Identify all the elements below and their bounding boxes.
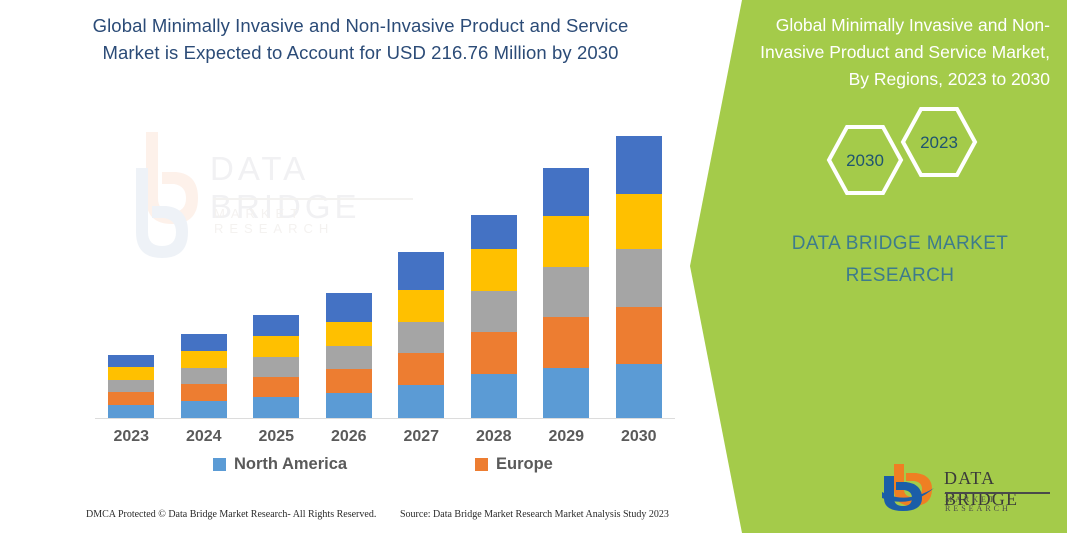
bar-segment-series-4 bbox=[108, 367, 154, 380]
bar-2024 bbox=[181, 334, 227, 418]
bar-segment-series-3 bbox=[543, 267, 589, 317]
bar-segment-europe bbox=[181, 384, 227, 401]
bar-segment-series-4 bbox=[398, 290, 444, 322]
legend-item-north-america[interactable]: North America bbox=[213, 455, 347, 474]
brand-line-2: RESEARCH bbox=[745, 260, 1055, 292]
chart-panel: Global Minimally Invasive and Non-Invasi… bbox=[0, 0, 712, 533]
x-tick-2028: 2028 bbox=[458, 428, 530, 446]
x-axis-line bbox=[95, 418, 675, 419]
bar-2027 bbox=[398, 252, 444, 418]
bar-2028 bbox=[471, 215, 517, 418]
bar-2030 bbox=[616, 136, 662, 418]
bar-chart-plot-area bbox=[95, 120, 675, 420]
bar-segment-north-america bbox=[398, 385, 444, 418]
side-panel-title: Global Minimally Invasive and Non-Invasi… bbox=[745, 12, 1050, 93]
bar-segment-series-3 bbox=[108, 380, 154, 392]
hexagon-label-2023: 2023 bbox=[916, 133, 962, 153]
x-tick-2027: 2027 bbox=[385, 428, 457, 446]
bar-segment-series-5 bbox=[253, 315, 299, 336]
infographic-page: Global Minimally Invasive and Non-Invasi… bbox=[0, 0, 1067, 533]
bar-2025 bbox=[253, 315, 299, 418]
bar-segment-series-3 bbox=[181, 368, 227, 384]
bar-2029 bbox=[543, 168, 589, 418]
x-tick-2023: 2023 bbox=[95, 428, 167, 446]
bar-segment-series-4 bbox=[253, 336, 299, 357]
bar-segment-series-3 bbox=[398, 322, 444, 353]
bar-segment-series-5 bbox=[108, 355, 154, 367]
bar-segment-series-4 bbox=[471, 249, 517, 291]
bar-segment-north-america bbox=[543, 368, 589, 418]
bar-segment-series-5 bbox=[181, 334, 227, 351]
bar-segment-north-america bbox=[616, 364, 662, 418]
bar-segment-series-5 bbox=[471, 215, 517, 249]
x-tick-2026: 2026 bbox=[313, 428, 385, 446]
footer: DMCA Protected © Data Bridge Market Rese… bbox=[0, 505, 712, 529]
hexagon-outline-icon bbox=[805, 105, 1015, 215]
bar-segment-series-4 bbox=[326, 322, 372, 346]
legend-swatch bbox=[213, 458, 226, 471]
legend-label: Europe bbox=[496, 455, 553, 474]
x-tick-2029: 2029 bbox=[530, 428, 602, 446]
bar-segment-series-4 bbox=[543, 216, 589, 267]
x-tick-2025: 2025 bbox=[240, 428, 312, 446]
bar-segment-series-4 bbox=[616, 194, 662, 249]
bar-segment-north-america bbox=[471, 374, 517, 418]
bar-segment-north-america bbox=[181, 401, 227, 418]
bar-segment-series-4 bbox=[181, 351, 227, 368]
green-side-panel: Global Minimally Invasive and Non-Invasi… bbox=[690, 0, 1067, 533]
bar-segment-europe bbox=[471, 332, 517, 374]
company-logo: DATA BRIDGE MARKET RESEARCH bbox=[882, 462, 1054, 516]
x-tick-2024: 2024 bbox=[168, 428, 240, 446]
legend-label: North America bbox=[234, 455, 347, 474]
legend-swatch bbox=[475, 458, 488, 471]
bar-segment-series-5 bbox=[616, 136, 662, 194]
brand-name: DATA BRIDGE MARKET RESEARCH bbox=[745, 228, 1055, 292]
bar-2026 bbox=[326, 293, 372, 418]
bar-segment-series-3 bbox=[326, 346, 372, 369]
x-axis-tick-labels: 20232024202520262027202820292030 bbox=[95, 428, 675, 452]
bar-segment-europe bbox=[616, 307, 662, 364]
page-title: Global Minimally Invasive and Non-Invasi… bbox=[88, 12, 633, 66]
footer-copyright: DMCA Protected © Data Bridge Market Rese… bbox=[86, 509, 376, 520]
bar-segment-europe bbox=[253, 377, 299, 397]
logo-divider bbox=[945, 492, 1050, 494]
bar-segment-europe bbox=[326, 369, 372, 393]
bar-segment-series-5 bbox=[326, 293, 372, 322]
bar-segment-europe bbox=[398, 353, 444, 385]
legend-item-europe[interactable]: Europe bbox=[475, 455, 553, 474]
bar-segment-north-america bbox=[253, 397, 299, 418]
brand-line-1: DATA BRIDGE MARKET bbox=[745, 228, 1055, 260]
bar-segment-europe bbox=[543, 317, 589, 368]
hexagon-label-2030: 2030 bbox=[842, 151, 888, 171]
bar-segment-series-3 bbox=[471, 291, 517, 332]
footer-source: Source: Data Bridge Market Research Mark… bbox=[400, 509, 669, 520]
hexagon-badges: 2030 2023 bbox=[805, 105, 1015, 215]
bar-segment-north-america bbox=[326, 393, 372, 418]
x-tick-2030: 2030 bbox=[603, 428, 675, 446]
bar-segment-series-3 bbox=[253, 357, 299, 377]
chart-legend: North AmericaEurope bbox=[95, 455, 675, 481]
bar-segment-series-5 bbox=[398, 252, 444, 290]
bar-segment-north-america bbox=[108, 405, 154, 418]
bar-segment-series-5 bbox=[543, 168, 589, 216]
logo-text-secondary: MARKET RESEARCH bbox=[945, 495, 1054, 513]
bar-2023 bbox=[108, 355, 154, 418]
bar-segment-series-3 bbox=[616, 249, 662, 307]
data-bridge-logo-icon bbox=[882, 462, 938, 512]
bar-segment-europe bbox=[108, 392, 154, 405]
